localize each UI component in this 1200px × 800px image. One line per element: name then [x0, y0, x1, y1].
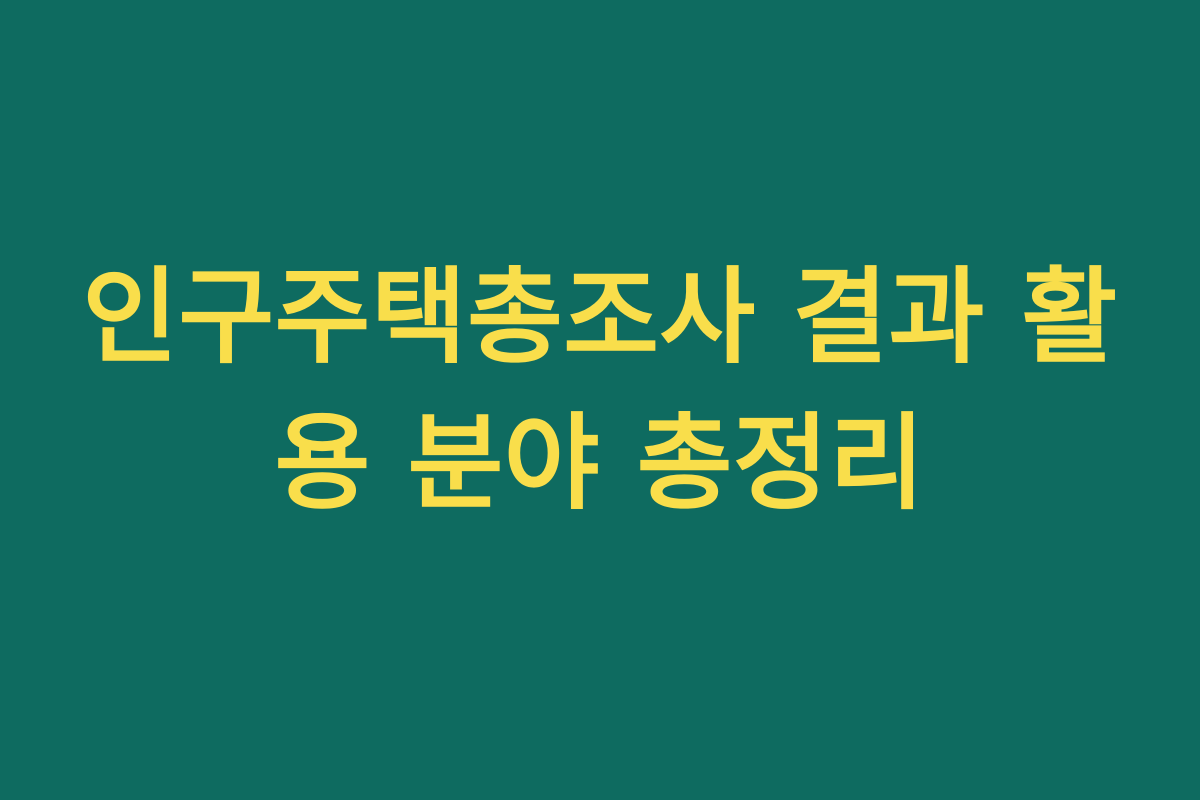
title-line-2: 용 분야 총정리: [80, 391, 1120, 537]
thumbnail-canvas: 인구주택총조사 결과 활 용 분야 총정리: [0, 0, 1200, 800]
title-block: 인구주택총조사 결과 활 용 분야 총정리: [80, 245, 1120, 536]
title-line-1: 인구주택총조사 결과 활: [80, 245, 1120, 391]
